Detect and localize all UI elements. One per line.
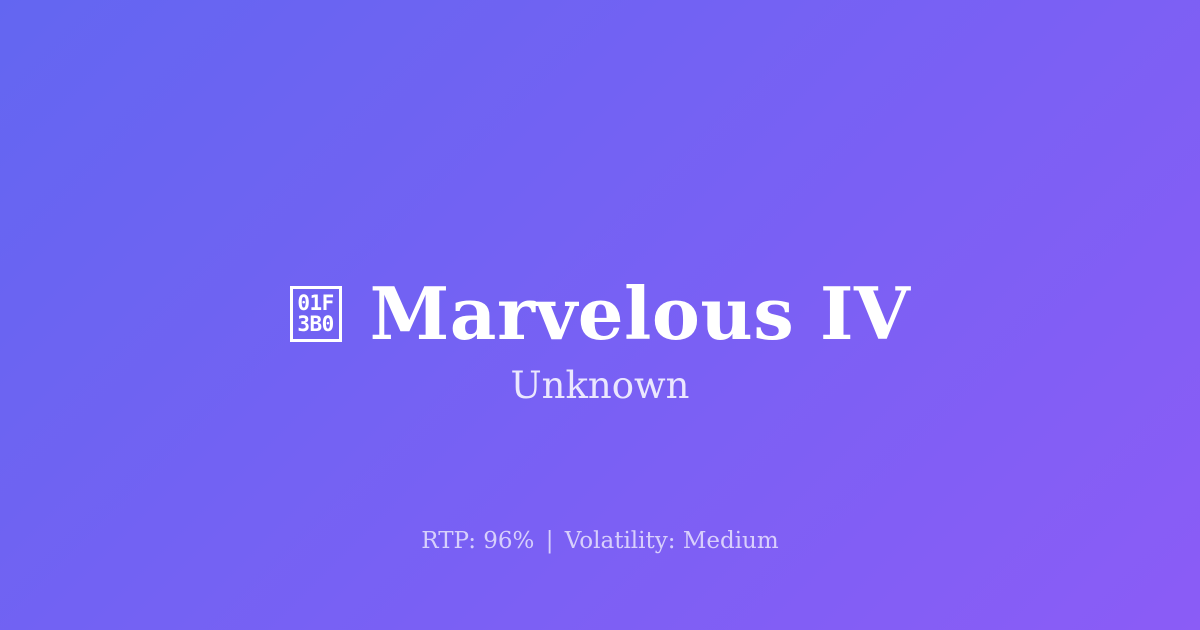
slot-machine-icon-codepoint-upper: 01F (297, 293, 333, 314)
volatility-label: Volatility: (565, 528, 676, 554)
rtp-label: RTP: (421, 528, 476, 554)
slot-machine-icon: 01F 3B0 (290, 286, 342, 342)
rtp-value: 96% (483, 528, 534, 554)
game-meta: RTP: 96% | Volatility: Medium (0, 528, 1200, 556)
page-title: Marvelous IV (370, 276, 911, 352)
slot-machine-icon-codepoint-lower: 3B0 (297, 314, 333, 335)
meta-separator: | (542, 528, 558, 554)
provider-name: Unknown (0, 364, 1200, 408)
volatility-value: Medium (683, 528, 779, 554)
game-og-card: 01F 3B0 Marvelous IV Unknown RTP: 96% | … (0, 0, 1200, 630)
